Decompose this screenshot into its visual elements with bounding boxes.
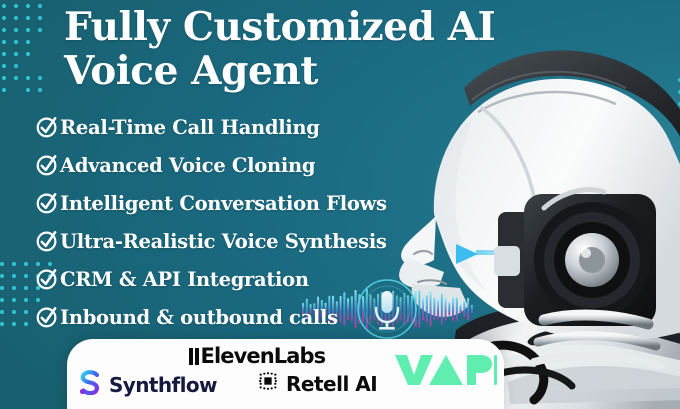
vapi-wordmark-icon bbox=[393, 376, 497, 393]
retell-matrix-icon bbox=[257, 370, 279, 397]
partner-logo-label: Synthflow bbox=[109, 373, 217, 397]
feature-label: CRM & API Integration bbox=[60, 268, 309, 291]
feature-label: Intelligent Conversation Flows bbox=[60, 192, 387, 215]
check-circle-icon bbox=[36, 191, 59, 214]
elevenlabs-bars-icon bbox=[189, 348, 199, 365]
page-title: Fully Customized AI Voice Agent bbox=[64, 6, 584, 93]
feature-label: Advanced Voice Cloning bbox=[60, 154, 315, 177]
feature-list: Real-Time Call HandlingAdvanced Voice Cl… bbox=[36, 108, 466, 336]
feature-item: Real-Time Call Handling bbox=[36, 108, 466, 146]
partner-logo-retell-ai[interactable]: Retell AI bbox=[257, 370, 377, 397]
feature-label: Ultra-Realistic Voice Synthesis bbox=[60, 230, 387, 253]
feature-label: Inbound & outbound calls bbox=[60, 306, 338, 329]
feature-item: Ultra-Realistic Voice Synthesis bbox=[36, 222, 466, 260]
feature-label: Real-Time Call Handling bbox=[60, 116, 320, 139]
check-circle-icon bbox=[36, 229, 59, 252]
check-circle-icon bbox=[36, 305, 59, 328]
partner-logo-label: ElevenLabs bbox=[201, 344, 326, 368]
partner-logo-vapi[interactable] bbox=[393, 351, 497, 394]
promo-banner: Fully Customized AI Voice Agent bbox=[0, 0, 680, 409]
partner-logo-synthflow[interactable]: Synthflow bbox=[75, 367, 217, 402]
partner-logo-label: Retell AI bbox=[286, 372, 377, 396]
check-circle-icon bbox=[36, 153, 59, 176]
feature-item: Intelligent Conversation Flows bbox=[36, 184, 466, 222]
partner-logo-elevenlabs[interactable]: ElevenLabs bbox=[189, 344, 325, 368]
feature-item: CRM & API Integration bbox=[36, 260, 466, 298]
check-circle-icon bbox=[36, 115, 59, 138]
feature-item: Advanced Voice Cloning bbox=[36, 146, 466, 184]
feature-item: Inbound & outbound calls bbox=[36, 298, 466, 336]
check-circle-icon bbox=[36, 267, 59, 290]
partner-logo-bar: Synthflow ElevenLabs bbox=[67, 339, 504, 409]
synthflow-s-icon bbox=[75, 367, 105, 402]
